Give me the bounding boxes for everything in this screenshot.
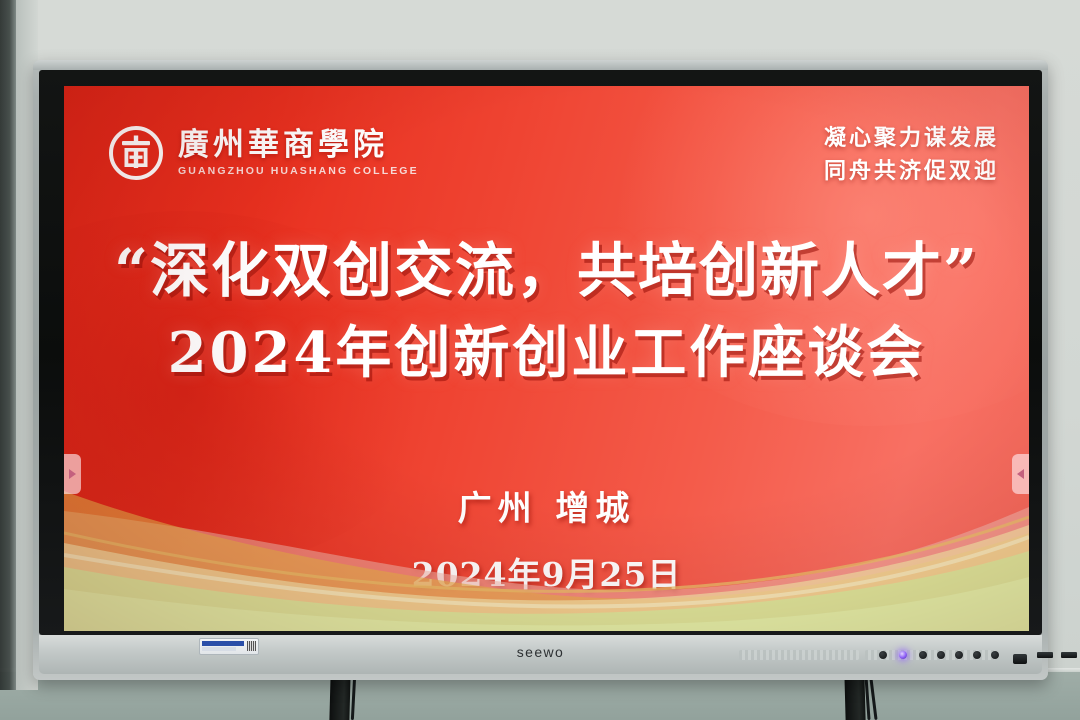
wall-dark-strip xyxy=(0,0,16,690)
io-dot[interactable] xyxy=(879,651,887,659)
io-dot[interactable] xyxy=(937,651,945,659)
device-sticker-label xyxy=(199,638,259,655)
presentation-slide[interactable]: 廣州華商學院 GUANGZHOU HUASHANG COLLEGE 凝心聚力谋发… xyxy=(64,86,1029,631)
display-chin-bar: seewo xyxy=(39,635,1042,674)
io-dot[interactable] xyxy=(991,651,999,659)
display-bezel: 廣州華商學院 GUANGZHOU HUASHANG COLLEGE 凝心聚力谋发… xyxy=(39,70,1042,635)
interactive-flat-panel: 廣州華商學院 GUANGZHOU HUASHANG COLLEGE 凝心聚力谋发… xyxy=(33,60,1048,680)
io-dot[interactable] xyxy=(919,651,927,659)
sticker-bar xyxy=(202,647,236,651)
usb-port[interactable] xyxy=(1013,654,1027,664)
chevron-right-icon xyxy=(69,469,76,479)
qr-code-icon xyxy=(247,641,256,651)
sidebar-handle-left[interactable] xyxy=(64,454,81,494)
room-background: 廣州華商學院 GUANGZHOU HUASHANG COLLEGE 凝心聚力谋发… xyxy=(0,0,1080,720)
stand-leg-left xyxy=(329,674,350,720)
power-indicator-led[interactable] xyxy=(899,651,907,659)
speaker-grille xyxy=(739,650,859,660)
io-slot[interactable] xyxy=(1061,652,1077,658)
sidebar-handle-right[interactable] xyxy=(1012,454,1029,494)
frame-top-highlight xyxy=(33,60,1048,70)
io-dot[interactable] xyxy=(973,651,981,659)
stand-leg-right xyxy=(844,674,865,720)
chevron-left-icon xyxy=(1017,469,1024,479)
screen-vignette xyxy=(64,86,1029,631)
io-button-panel[interactable] xyxy=(851,635,1041,674)
io-dot[interactable] xyxy=(955,651,963,659)
io-slot[interactable] xyxy=(1037,652,1053,658)
sticker-bar xyxy=(202,641,244,646)
